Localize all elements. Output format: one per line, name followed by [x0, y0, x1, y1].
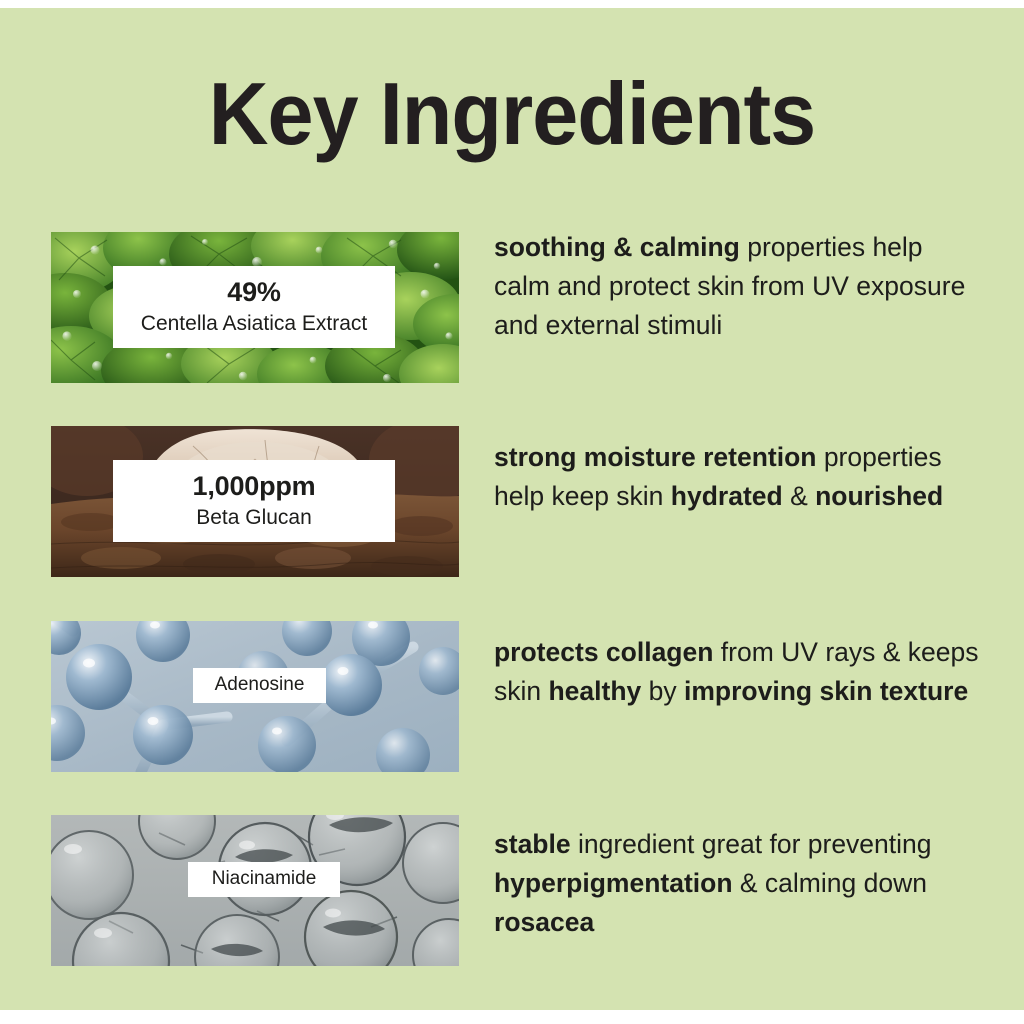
- ingredient-name: Centella Asiatica Extract: [113, 309, 395, 339]
- ingredient-name: Niacinamide: [188, 866, 340, 892]
- page-title: Key Ingredients: [31, 70, 994, 158]
- key-ingredients-infographic: Key Ingredients: [0, 0, 1024, 1024]
- ingredient-description: stable ingredient great for preventing h…: [494, 825, 981, 942]
- ingredient-description: protects collagen from UV rays & keeps s…: [494, 633, 981, 711]
- ingredient-name: Beta Glucan: [113, 503, 395, 533]
- ingredient-name: Adenosine: [193, 672, 326, 698]
- ingredient-chip: Niacinamide: [188, 862, 340, 897]
- infographic-canvas: Key Ingredients: [0, 8, 1024, 1010]
- ingredient-chip: 1,000ppm Beta Glucan: [113, 460, 395, 542]
- ingredient-description: strong moisture retention properties hel…: [494, 438, 981, 516]
- ingredient-chip: 49% Centella Asiatica Extract: [113, 266, 395, 348]
- ingredient-description: soothing & calming properties help calm …: [494, 228, 981, 345]
- ingredient-chip: Adenosine: [193, 668, 326, 703]
- ingredient-amount: 49%: [113, 275, 395, 309]
- ingredient-amount: 1,000ppm: [113, 469, 395, 503]
